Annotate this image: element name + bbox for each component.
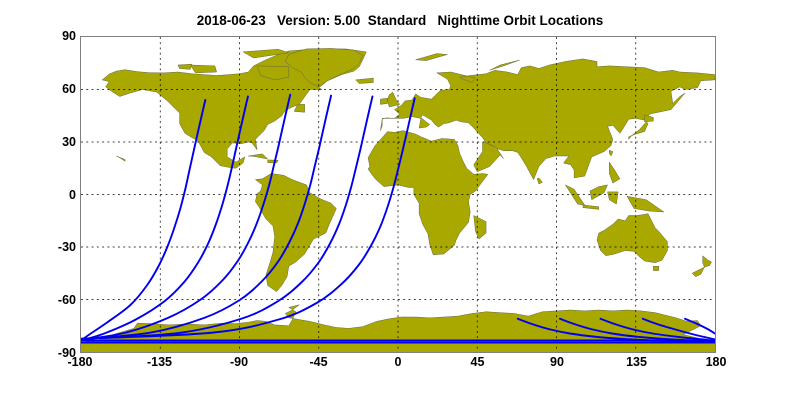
landmass-new-zealand-n: [703, 256, 712, 267]
landmass-sri-lanka: [537, 178, 542, 184]
y-tick-label-60: 60: [62, 82, 76, 96]
x-tick-label-45: 45: [471, 355, 485, 369]
landmass-japan-h: [645, 115, 654, 122]
x-tick-label-180: 180: [706, 355, 727, 369]
landmass-japan-m: [629, 122, 648, 140]
world-map: [81, 37, 715, 352]
landmass-borneo: [590, 185, 608, 200]
x-tick-label-135: 135: [626, 355, 647, 369]
landmass-sumatra: [565, 185, 584, 205]
x-tick-label--180: -180: [67, 355, 92, 369]
landmass-ireland: [380, 98, 387, 104]
landmass-australia: [597, 214, 667, 263]
y-tick-label-90: 90: [62, 29, 76, 43]
orbit-map-figure: 2018-06-23 Version: 5.00 Standard Nightt…: [0, 0, 800, 400]
landmass-sulawesi: [608, 192, 619, 204]
landmass-new-zealand-s: [692, 267, 704, 277]
landmass-iceland: [356, 78, 374, 83]
landmass-java: [583, 205, 599, 209]
landmass-africa: [368, 131, 488, 255]
landmass-victoria-isl: [190, 65, 216, 73]
plot-area: [80, 36, 716, 353]
y-tick-label-0: 0: [69, 188, 76, 202]
orbit-track-1: [81, 100, 205, 341]
landmass-hawaii: [116, 156, 125, 161]
landmass-tasmania: [653, 266, 658, 270]
landmass-banks: [178, 64, 192, 69]
figure-title: 2018-06-23 Version: 5.00 Standard Nightt…: [0, 13, 800, 28]
y-tick-label--60: -60: [58, 293, 76, 307]
x-tick-label-90: 90: [550, 355, 564, 369]
landmass-hispaniola: [268, 160, 279, 163]
y-tick-label--30: -30: [58, 240, 76, 254]
x-tick-label--135: -135: [147, 355, 172, 369]
landmass-taiwan: [609, 150, 613, 156]
x-tick-label--90: -90: [230, 355, 248, 369]
landmass-philippines: [609, 162, 620, 183]
x-tick-label-0: 0: [395, 355, 402, 369]
landmass-uk: [387, 92, 399, 107]
landmass-new-guinea: [627, 196, 664, 212]
landmass-svalbard: [416, 54, 448, 61]
landmass-cuba: [248, 154, 267, 159]
landmass-madagascar: [474, 216, 486, 240]
y-tick-label-30: 30: [62, 135, 76, 149]
x-tick-label--45: -45: [309, 355, 327, 369]
landmass-novaya-zemlya: [490, 60, 520, 70]
